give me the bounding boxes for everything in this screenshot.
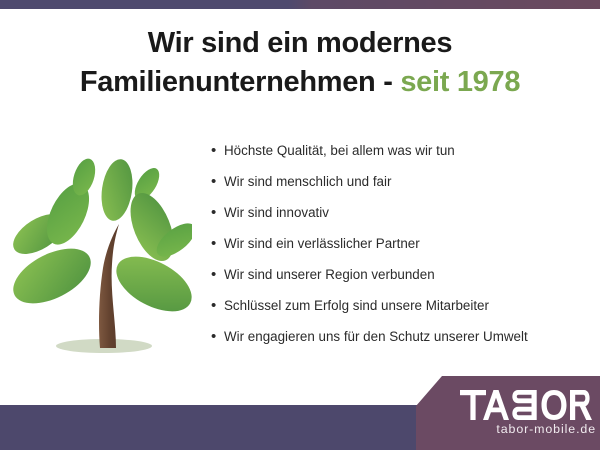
tree-leaf — [107, 245, 192, 322]
tree-leaf — [122, 187, 182, 267]
list-item-label: Schlüssel zum Erfolg sind unsere Mitarbe… — [224, 295, 489, 317]
list-item: • Schlüssel zum Erfolg sind unsere Mitar… — [208, 295, 594, 326]
list-item-label: Wir sind innovativ — [224, 202, 329, 224]
list-item-label: Höchste Qualität, bei allem was wir tun — [224, 140, 455, 162]
tree-icon — [12, 152, 192, 357]
presentation-slide: Wir sind ein modernes Familienunternehme… — [0, 0, 600, 450]
top-accent-bar — [0, 0, 600, 9]
bullet-icon: • — [208, 171, 224, 193]
bullet-icon: • — [208, 140, 224, 162]
list-item: • Wir sind innovativ — [208, 202, 594, 233]
bullet-icon: • — [208, 326, 224, 348]
brand-url[interactable]: tabor-mobile.de — [460, 422, 596, 436]
bullet-icon: • — [208, 202, 224, 224]
tree-trunk — [99, 224, 119, 348]
list-item-label: Wir sind menschlich und fair — [224, 171, 391, 193]
list-item-label: Wir engagieren uns für den Schutz unsere… — [224, 326, 528, 348]
headline-line-1: Wir sind ein modernes — [0, 24, 600, 63]
benefits-list: • Höchste Qualität, bei allem was wir tu… — [208, 140, 594, 357]
list-item: • Höchste Qualität, bei allem was wir tu… — [208, 140, 594, 171]
page-title: Wir sind ein modernes Familienunternehme… — [0, 24, 600, 102]
list-item: • Wir sind unserer Region verbunden — [208, 264, 594, 295]
tabor-wordmark-icon — [460, 390, 592, 420]
list-item: • Wir sind menschlich und fair — [208, 171, 594, 202]
bullet-icon: • — [208, 295, 224, 317]
list-item-label: Wir sind ein verlässlicher Partner — [224, 233, 420, 255]
bullet-icon: • — [208, 264, 224, 286]
bullet-icon: • — [208, 233, 224, 255]
tree-leaf — [98, 157, 136, 223]
headline-line-2-prefix: Familienunternehmen - — [80, 66, 401, 98]
headline-line-2: Familienunternehmen - seit 1978 — [0, 63, 600, 102]
list-item: • Wir sind ein verlässlicher Partner — [208, 233, 594, 264]
list-item-label: Wir sind unserer Region verbunden — [224, 264, 435, 286]
brand-logo[interactable]: tabor-mobile.de — [416, 376, 600, 450]
headline-accent-year: seit 1978 — [400, 66, 520, 98]
list-item: • Wir engagieren uns für den Schutz unse… — [208, 326, 594, 357]
